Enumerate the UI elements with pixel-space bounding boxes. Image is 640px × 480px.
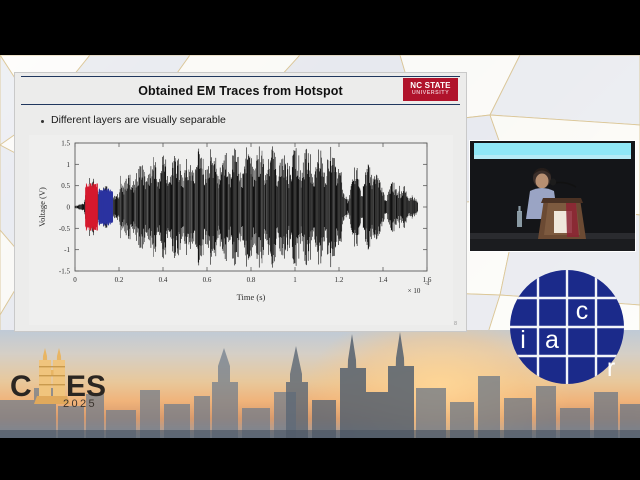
svg-text:0: 0 [73,276,77,284]
svg-text:-0.5: -0.5 [59,225,71,233]
screenshot-stage: Obtained EM Traces from Hotspot NC STATE… [0,0,640,480]
em-trace-chart: 00.20.40.60.811.21.41.6 1.510.50-0.5-1-1… [29,135,453,325]
svg-text:-1: -1 [64,246,70,254]
svg-text:0.5: 0.5 [61,182,70,190]
page-title: Obtained EM Traces from Hotspot [138,84,343,98]
svg-text:Time (s): Time (s) [237,292,266,302]
bullet-text: Different layers are visually separable [51,114,226,126]
ches-logo: C ES 2025 [8,348,130,410]
svg-text:c: c [576,297,589,325]
svg-text:× 10: × 10 [408,287,421,295]
svg-text:1.5: 1.5 [61,140,70,148]
svg-text:C: C [10,370,32,403]
svg-text:-4: -4 [425,281,430,287]
nc-state-logo-name: NC STATE [410,82,450,90]
svg-text:0.6: 0.6 [203,276,212,284]
speaker-video[interactable] [470,141,635,251]
bullet-point-icon [41,120,44,123]
svg-text:1: 1 [67,161,71,169]
nc-state-logo-subtitle: UNIVERSITY [412,91,449,96]
svg-text:1: 1 [293,276,297,284]
svg-text:Voltage (V): Voltage (V) [37,187,47,227]
slide-title-bar: Obtained EM Traces from Hotspot [21,76,460,105]
svg-text:r: r [607,354,615,382]
presentation-slide: Obtained EM Traces from Hotspot NC STATE… [15,73,466,331]
svg-text:0.2: 0.2 [115,276,124,284]
svg-text:1.2: 1.2 [335,276,344,284]
petronas-towers-icon [34,348,70,404]
svg-text:1.4: 1.4 [379,276,388,284]
svg-text:i: i [520,326,526,354]
letterbox-top [0,0,640,55]
svg-text:0.4: 0.4 [159,276,168,284]
nc-state-logo: NC STATE UNIVERSITY [403,78,458,101]
slide-number: 8 [454,321,457,327]
letterbox-bottom [0,438,640,480]
svg-text:0: 0 [67,204,71,212]
bullet-list-item: Different layers are visually separable [41,114,226,126]
svg-text:0.8: 0.8 [247,276,256,284]
svg-text:2025: 2025 [63,398,97,410]
svg-text:-1.5: -1.5 [59,268,71,276]
iacr-logo: i a c r [508,268,626,386]
svg-text:a: a [545,326,559,354]
